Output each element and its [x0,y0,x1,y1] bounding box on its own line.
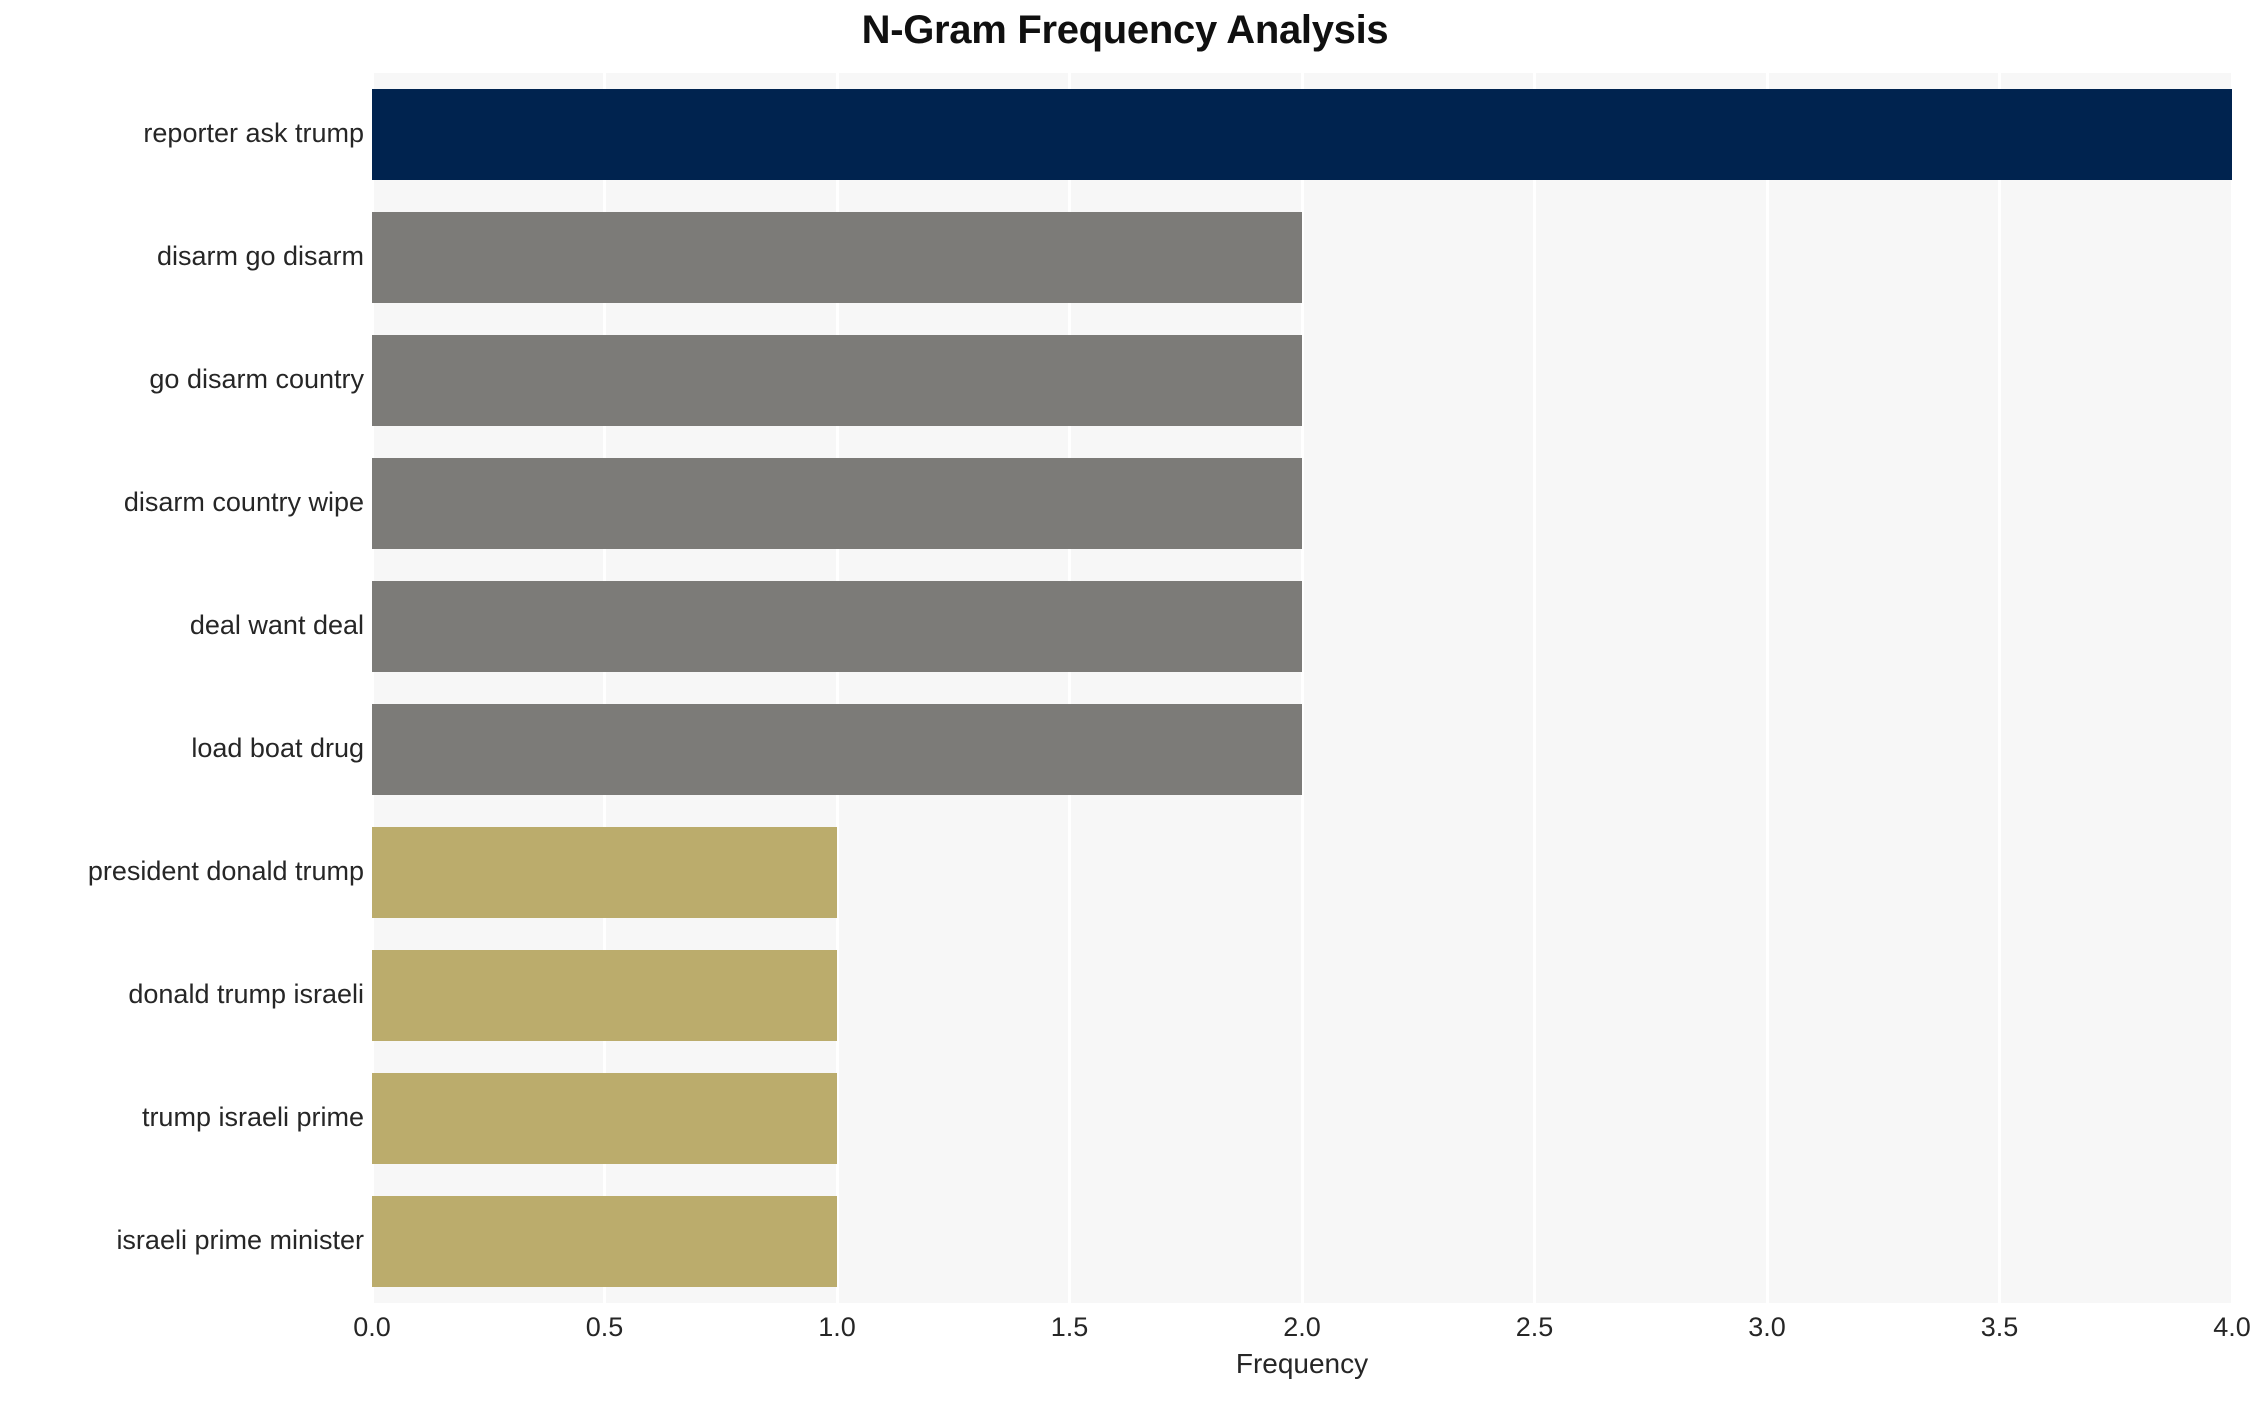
y-tick-label: donald trump israeli [0,979,364,1010]
x-tick-label: 2.5 [1516,1312,1554,1343]
bar-row [372,1073,2232,1164]
bar-row [372,581,2232,672]
x-tick-label: 1.0 [818,1312,856,1343]
chart-figure: N-Gram Frequency Analysis reporter ask t… [0,0,2250,1402]
plot-area [372,73,2232,1303]
y-tick-label: go disarm country [0,364,364,395]
bar[interactable] [372,1196,837,1287]
bar[interactable] [372,581,1302,672]
bar-row [372,827,2232,918]
bar[interactable] [372,704,1302,795]
y-tick-label: deal want deal [0,610,364,641]
bar-row [372,704,2232,795]
x-tick-label: 2.0 [1283,1312,1321,1343]
bar-row [372,335,2232,426]
bar[interactable] [372,1073,837,1164]
x-tick-label: 0.0 [353,1312,391,1343]
y-tick-label: disarm country wipe [0,487,364,518]
x-tick-label: 1.5 [1051,1312,1089,1343]
bar-row [372,458,2232,549]
bar-row [372,1196,2232,1287]
bar[interactable] [372,89,2232,180]
x-axis-title: Frequency [372,1348,2232,1380]
y-tick-label: israeli prime minister [0,1225,364,1256]
x-tick-label: 3.5 [1981,1312,2019,1343]
bar[interactable] [372,950,837,1041]
y-axis-tick-labels: reporter ask trumpdisarm go disarmgo dis… [0,73,364,1303]
bar[interactable] [372,827,837,918]
bar[interactable] [372,335,1302,426]
y-tick-label: reporter ask trump [0,118,364,149]
bar[interactable] [372,458,1302,549]
bar-row [372,212,2232,303]
y-tick-label: load boat drug [0,733,364,764]
bar[interactable] [372,212,1302,303]
y-tick-label: disarm go disarm [0,241,364,272]
x-tick-label: 3.0 [1748,1312,1786,1343]
x-tick-label: 4.0 [2213,1312,2250,1343]
bar-row [372,89,2232,180]
chart-title: N-Gram Frequency Analysis [0,8,2250,53]
x-tick-label: 0.5 [586,1312,624,1343]
y-tick-label: trump israeli prime [0,1102,364,1133]
y-tick-label: president donald trump [0,856,364,887]
bar-row [372,950,2232,1041]
